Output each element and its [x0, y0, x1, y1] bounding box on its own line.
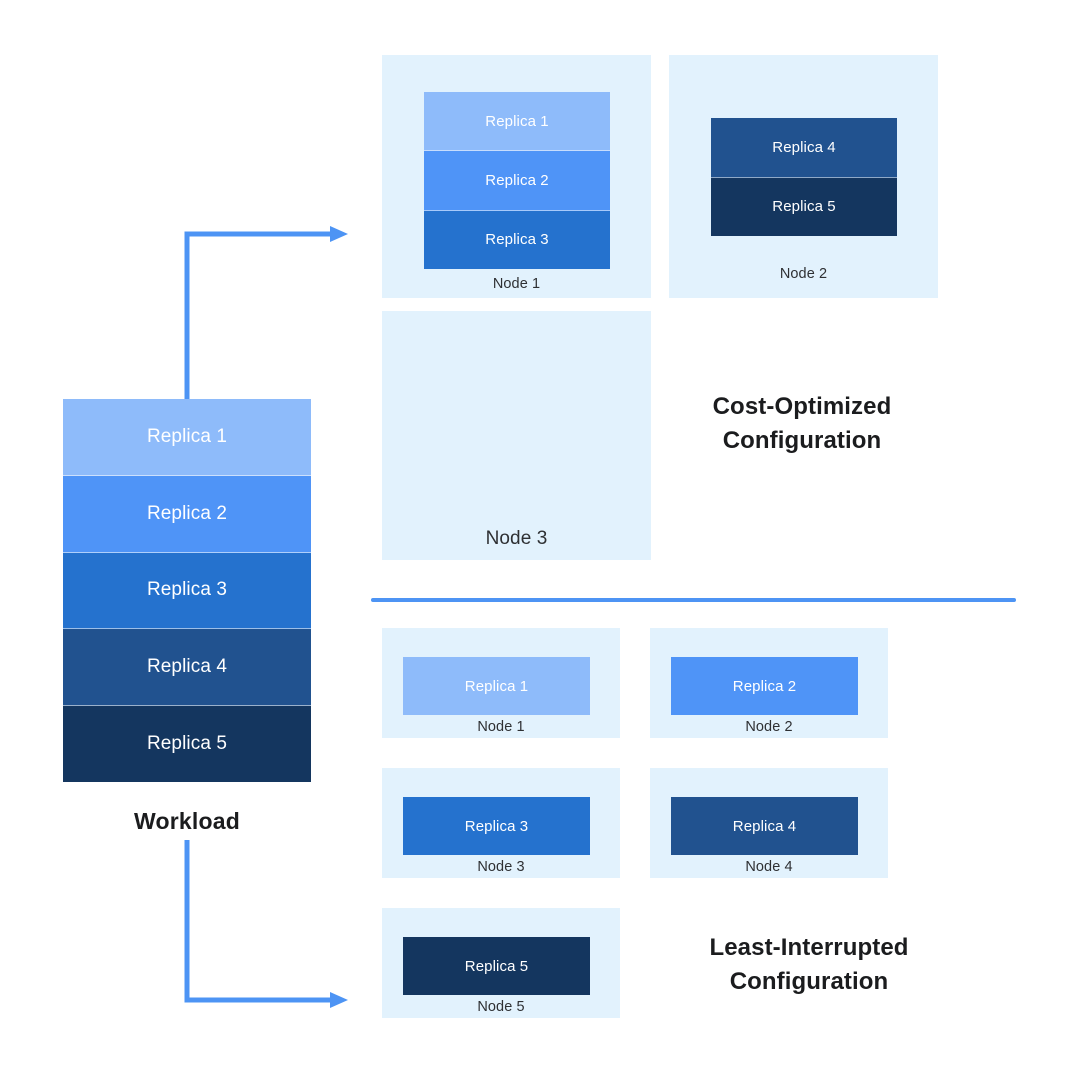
least-interrupted-title-line-1: Least-Interrupted	[655, 931, 963, 965]
cost-node-1-replica-3-label: Replica 3	[485, 231, 548, 248]
cost-optimized-title: Cost-Optimized Configuration	[648, 390, 956, 458]
cost-node-3-label: Node 3	[382, 528, 651, 550]
arrow-to-least-interrupted-head	[330, 992, 348, 1008]
least-node-5-replica-5-label: Replica 5	[465, 958, 528, 975]
cost-node-1-replica-stack: Replica 1 Replica 2 Replica 3	[424, 92, 610, 269]
workload-replica-1-label: Replica 1	[147, 426, 227, 448]
cost-node-3[interactable]: Node 3	[382, 311, 651, 560]
workload-replica-5-label: Replica 5	[147, 733, 227, 755]
least-node-2-replica-stack: Replica 2	[671, 657, 858, 715]
arrow-to-cost-optimized-head	[330, 226, 348, 242]
arrow-to-cost-optimized-path	[187, 234, 330, 399]
least-node-3-replica-3[interactable]: Replica 3	[403, 797, 590, 855]
least-node-4[interactable]: Replica 4 Node 4	[650, 768, 888, 878]
least-interrupted-title: Least-Interrupted Configuration	[655, 931, 963, 999]
least-node-4-replica-4[interactable]: Replica 4	[671, 797, 858, 855]
least-node-3[interactable]: Replica 3 Node 3	[382, 768, 620, 878]
workload-replica-4-label: Replica 4	[147, 656, 227, 678]
least-node-1-replica-1[interactable]: Replica 1	[403, 657, 590, 715]
least-node-2-replica-2-label: Replica 2	[733, 678, 796, 695]
cost-node-2-replica-4[interactable]: Replica 4	[711, 118, 897, 178]
diagram-canvas: Replica 1 Replica 2 Replica 3 Replica 4 …	[0, 0, 1080, 1080]
cost-node-1-replica-2-label: Replica 2	[485, 172, 548, 189]
cost-node-1[interactable]: Replica 1 Replica 2 Replica 3 Node 1	[382, 55, 651, 298]
least-node-5-replica-stack: Replica 5	[403, 937, 590, 995]
arrow-to-least-interrupted-path	[187, 840, 330, 1000]
cost-node-2[interactable]: Replica 4 Replica 5 Node 2	[669, 55, 938, 298]
least-node-3-replica-3-label: Replica 3	[465, 818, 528, 835]
cost-node-2-replica-4-label: Replica 4	[772, 139, 835, 156]
section-divider	[371, 598, 1016, 602]
least-node-2-label: Node 2	[650, 719, 888, 735]
least-node-1-replica-stack: Replica 1	[403, 657, 590, 715]
cost-node-2-replica-5-label: Replica 5	[772, 198, 835, 215]
cost-node-2-label: Node 2	[669, 266, 938, 282]
least-node-5-replica-5[interactable]: Replica 5	[403, 937, 590, 995]
workload-replica-2[interactable]: Replica 2	[63, 476, 311, 553]
cost-optimized-title-line-2: Configuration	[648, 424, 956, 458]
least-node-3-label: Node 3	[382, 859, 620, 875]
cost-optimized-title-line-1: Cost-Optimized	[648, 390, 956, 424]
workload-stack: Replica 1 Replica 2 Replica 3 Replica 4 …	[63, 399, 311, 782]
workload-replica-5[interactable]: Replica 5	[63, 706, 311, 782]
least-node-1-label: Node 1	[382, 719, 620, 735]
workload-title: Workload	[63, 808, 311, 835]
cost-node-1-replica-1[interactable]: Replica 1	[424, 92, 610, 151]
least-node-4-replica-stack: Replica 4	[671, 797, 858, 855]
least-node-2-replica-2[interactable]: Replica 2	[671, 657, 858, 715]
workload-replica-4[interactable]: Replica 4	[63, 629, 311, 706]
cost-node-1-label: Node 1	[382, 276, 651, 292]
least-node-3-replica-stack: Replica 3	[403, 797, 590, 855]
least-interrupted-title-line-2: Configuration	[655, 965, 963, 999]
least-node-4-replica-4-label: Replica 4	[733, 818, 796, 835]
workload-replica-3-label: Replica 3	[147, 579, 227, 601]
workload-replica-2-label: Replica 2	[147, 503, 227, 525]
cost-node-1-replica-3[interactable]: Replica 3	[424, 211, 610, 269]
least-node-1[interactable]: Replica 1 Node 1	[382, 628, 620, 738]
workload-replica-3[interactable]: Replica 3	[63, 553, 311, 630]
least-node-2[interactable]: Replica 2 Node 2	[650, 628, 888, 738]
least-node-5-label: Node 5	[382, 999, 620, 1015]
cost-node-1-replica-1-label: Replica 1	[485, 113, 548, 130]
least-node-4-label: Node 4	[650, 859, 888, 875]
least-node-5[interactable]: Replica 5 Node 5	[382, 908, 620, 1018]
cost-node-2-replica-stack: Replica 4 Replica 5	[711, 118, 897, 236]
least-node-1-replica-1-label: Replica 1	[465, 678, 528, 695]
cost-node-1-replica-2[interactable]: Replica 2	[424, 151, 610, 210]
workload-replica-1[interactable]: Replica 1	[63, 399, 311, 476]
cost-node-2-replica-5[interactable]: Replica 5	[711, 178, 897, 237]
